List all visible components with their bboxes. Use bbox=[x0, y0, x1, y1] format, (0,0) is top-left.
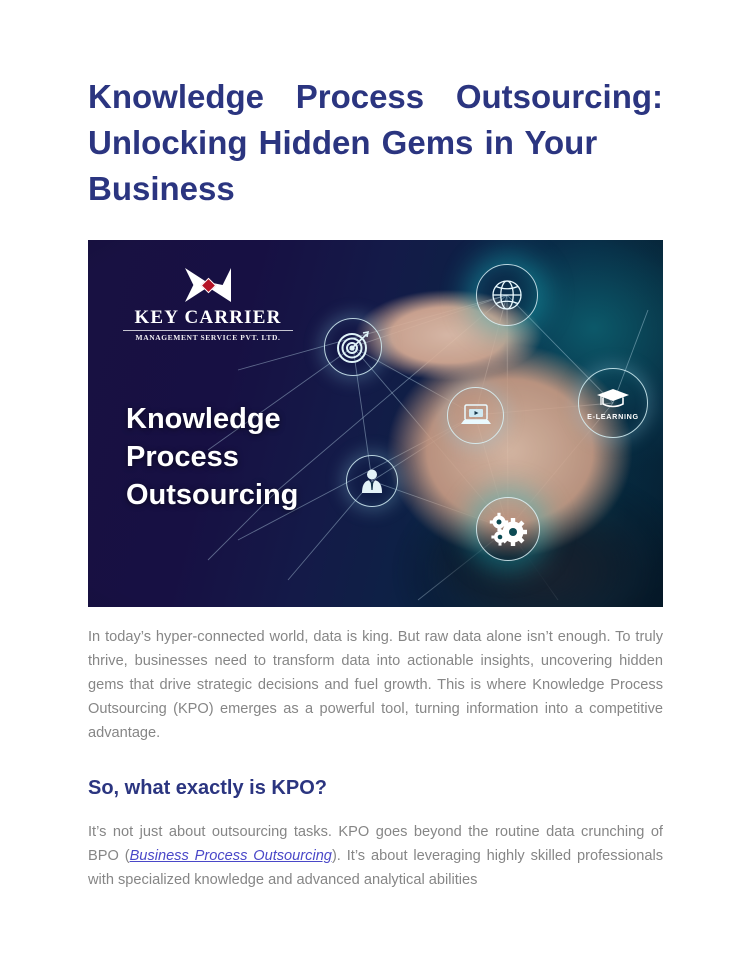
banner-headline-line-2: Process bbox=[126, 438, 298, 476]
target-icon bbox=[324, 318, 382, 376]
page-title-line-1: Knowledge Process Outsourcing: bbox=[88, 78, 663, 115]
banner-headline-line-3: Outsourcing bbox=[126, 476, 298, 514]
bpo-link[interactable]: Business Process Outsourcing bbox=[130, 848, 332, 864]
logo-tagline: MANAGEMENT SERVICE PVT. LTD. bbox=[118, 333, 298, 342]
section-heading-what-is-kpo: So, what exactly is KPO? bbox=[88, 745, 663, 801]
page-title-line-2: Unlocking Hidden Gems in Your bbox=[88, 124, 597, 161]
person-business-icon bbox=[346, 455, 398, 507]
banner-headline-line-1: Knowledge bbox=[126, 400, 298, 438]
globe-icon bbox=[476, 264, 538, 326]
bowtie-diamond-icon bbox=[185, 268, 231, 302]
gears-icon bbox=[476, 497, 540, 561]
logo-company-name: KEY CARRIER bbox=[118, 308, 298, 328]
page-title-line-3: Business bbox=[88, 166, 663, 212]
company-logo: KEY CARRIER MANAGEMENT SERVICE PVT. LTD. bbox=[118, 268, 298, 342]
logo-divider bbox=[123, 330, 293, 331]
banner-headline: Knowledge Process Outsourcing bbox=[126, 400, 298, 514]
kpo-definition-paragraph: It’s not just about outsourcing tasks. K… bbox=[88, 801, 663, 892]
hero-banner-image: KEY CARRIER MANAGEMENT SERVICE PVT. LTD.… bbox=[88, 240, 663, 607]
elearning-label: E-LEARNING bbox=[587, 412, 639, 421]
graduation-cap-icon: E-LEARNING bbox=[578, 368, 648, 438]
page-title: Knowledge Process Outsourcing: Unlocking… bbox=[88, 0, 663, 212]
laptop-video-icon bbox=[447, 387, 504, 444]
document-page: Knowledge Process Outsourcing: Unlocking… bbox=[0, 0, 741, 960]
document-content: Knowledge Process Outsourcing: Unlocking… bbox=[88, 0, 663, 892]
intro-paragraph: In today’s hyper-connected world, data i… bbox=[88, 607, 663, 745]
